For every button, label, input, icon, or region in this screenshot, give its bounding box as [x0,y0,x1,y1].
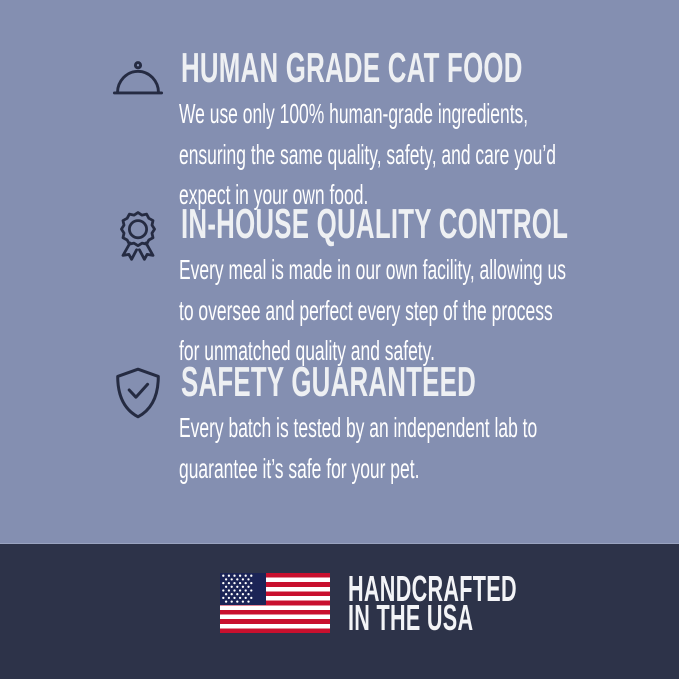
feature-title: IN-HOUSE QUALITY CONTROL [181,203,438,245]
footer-content: HANDCRAFTED IN THE USA [220,572,629,634]
handcrafted-in-usa-text: HANDCRAFTED IN THE USA [348,574,517,632]
feature-text: IN-HOUSE QUALITY CONTROL Every meal is m… [179,203,599,372]
product-feature-graphic: HUMAN GRADE CAT FOOD We use only 100% hu… [0,0,679,679]
us-flag-icon [220,573,330,633]
feature-title: HUMAN GRADE CAT FOOD [181,47,438,89]
cloche-icon [110,51,166,107]
shield-check-icon [110,365,166,421]
feature-text: HUMAN GRADE CAT FOOD We use only 100% hu… [179,47,599,216]
flag-stars [220,573,266,605]
features-panel: HUMAN GRADE CAT FOOD We use only 100% hu… [0,0,679,543]
made-in-usa-footer: HANDCRAFTED IN THE USA [0,543,679,679]
award-rosette-icon [110,207,166,263]
feature-description: We use only 100% human-grade ingredients… [179,94,598,216]
feature-text: SAFETY GUARANTEED Every batch is tested … [179,361,599,489]
feature-description: Every batch is tested by an independent … [179,408,598,489]
feature-description: Every meal is made in our own facility, … [179,250,598,372]
feature-title: SAFETY GUARANTEED [181,361,438,403]
